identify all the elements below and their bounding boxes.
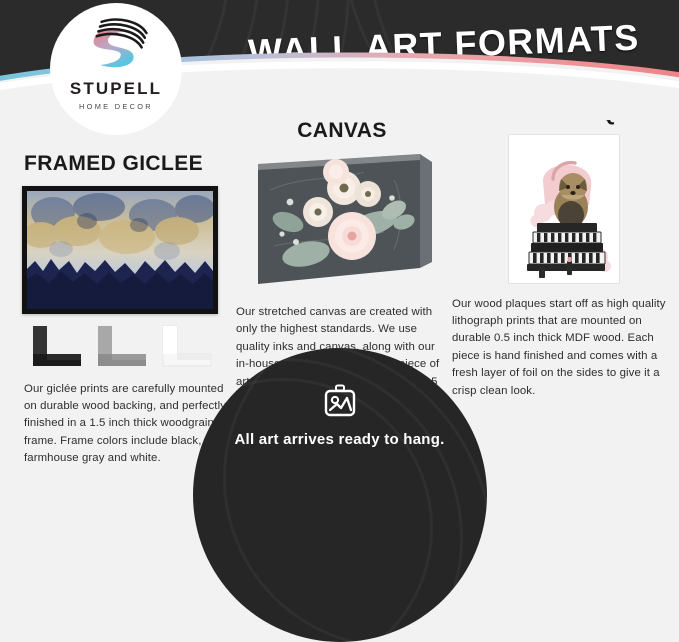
column-heading: FRAMED GICLEE xyxy=(8,152,232,176)
frame-swatch-black xyxy=(27,324,83,368)
wood-plaque-image xyxy=(508,134,620,284)
yorkie-fashion-plaque-icon xyxy=(509,135,620,284)
stupell-swoosh-icon xyxy=(76,17,156,73)
frame-swatch-gray xyxy=(92,324,148,368)
brand-tagline: HOME DECOR xyxy=(79,102,153,111)
framed-picture-icon xyxy=(320,384,360,422)
abstract-blue-gold-art-icon xyxy=(27,191,213,309)
footer-tagline: All art arrives ready to hang. xyxy=(234,431,444,448)
column-heading-line2: CANVAS xyxy=(236,119,448,143)
brand-logo: STUPELL HOME DECOR xyxy=(50,3,182,135)
stretched-canvas-image xyxy=(244,150,440,290)
floral-canvas-icon xyxy=(244,150,440,290)
footer-banner: All art arrives ready to hang. xyxy=(193,348,487,642)
brand-name: STUPELL xyxy=(70,79,162,99)
framed-giclee-image xyxy=(22,186,218,314)
